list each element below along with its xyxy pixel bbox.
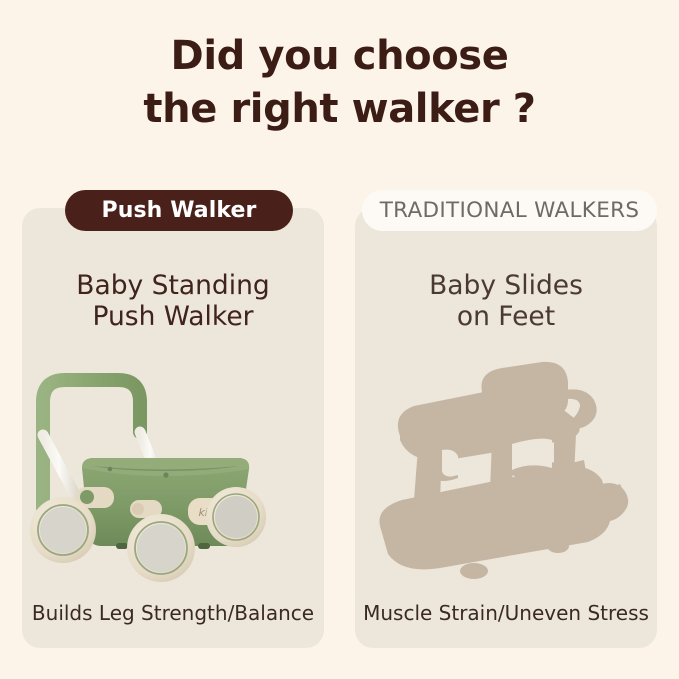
push-walker-caption: Builds Leg Strength/Balance	[22, 601, 324, 625]
traditional-walker-title: Baby Slides on Feet	[355, 270, 657, 332]
wheel-front-right	[127, 514, 195, 582]
badge-push-walker-label: Push Walker	[102, 198, 257, 223]
badge-traditional-walkers-label: TRADITIONAL WALKERS	[380, 198, 640, 223]
wheel-rear-right	[206, 487, 266, 547]
comparison-section: kidpop	[0, 0, 679, 679]
badge-push-walker[interactable]: Push Walker	[65, 190, 293, 231]
traditional-walker-title-line-1: Baby Slides	[355, 270, 657, 301]
push-walker-title-line-2: Push Walker	[22, 301, 324, 332]
traditional-walker-caption: Muscle Strain/Uneven Stress	[355, 601, 657, 625]
traditional-walker-illustration	[362, 340, 652, 585]
push-walker-title-line-1: Baby Standing	[22, 270, 324, 301]
badge-traditional-walkers[interactable]: TRADITIONAL WALKERS	[362, 190, 657, 231]
push-walker-illustration: kidpop	[30, 340, 320, 585]
wheel-front-left	[30, 497, 96, 563]
push-walker-title: Baby Standing Push Walker	[22, 270, 324, 332]
traditional-walker-title-line-2: on Feet	[355, 301, 657, 332]
